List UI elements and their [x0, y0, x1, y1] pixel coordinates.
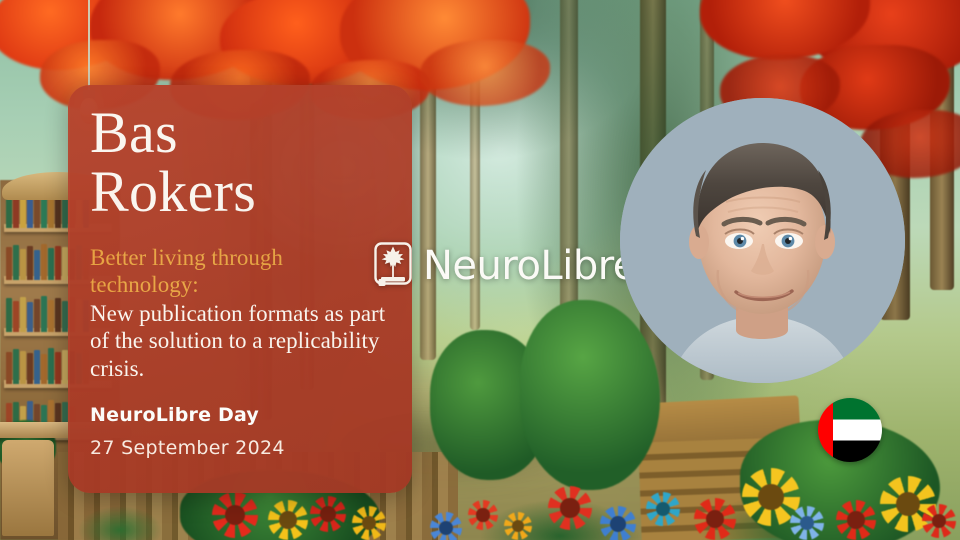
flower-icon	[212, 492, 258, 538]
flower-icon	[310, 496, 346, 532]
flower-icon	[694, 498, 736, 540]
neurolibre-logo: NeuroLibre	[372, 240, 637, 292]
event-name: NeuroLibre Day	[90, 404, 390, 426]
speaker-last-name: Rokers	[90, 162, 390, 221]
flower-icon	[352, 506, 386, 540]
flag-red-band	[818, 398, 833, 462]
flower-icon	[922, 504, 956, 538]
speaker-name: Bas Rokers	[90, 103, 390, 221]
flower-icon	[600, 506, 636, 540]
flower-icon	[646, 492, 680, 526]
talk-title-lead: Better living through technology:	[90, 245, 340, 298]
speaker-first-name: Bas	[90, 100, 178, 165]
neurolibre-wordmark: NeuroLibre	[423, 246, 637, 286]
flower-icon	[504, 512, 532, 540]
speaker-info-card: Bas Rokers Better living through technol…	[68, 85, 412, 493]
speaker-portrait	[620, 98, 905, 383]
neurolibre-book-leaf-icon	[372, 240, 414, 292]
uae-flag-badge	[818, 398, 882, 462]
flower-icon	[468, 500, 498, 530]
flower-icon	[268, 500, 308, 540]
talk-title-rest: New publication formats as part of the s…	[90, 300, 390, 383]
speaker-card-slide: Bas Rokers Better living through technol…	[0, 0, 960, 540]
flower-icon	[548, 486, 592, 530]
flower-icon	[790, 506, 824, 540]
event-date: 27 September 2024	[90, 437, 390, 459]
flag-stripes	[833, 398, 882, 462]
flower-icon	[836, 500, 876, 540]
flower-icon	[430, 512, 462, 540]
